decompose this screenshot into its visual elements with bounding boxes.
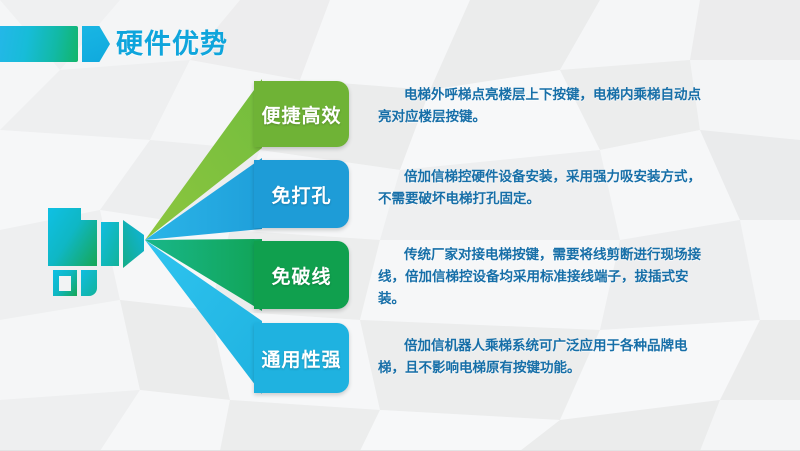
feature-description-3: 传统厂家对接电梯按键，需要将线剪断进行现场接线，倍加信梯控设备均采用标准接线端子…	[378, 244, 708, 310]
feature-box-2[interactable]: 免打孔	[254, 160, 349, 228]
feature-description-2: 倍加信梯控硬件设备安装，采用强力吸安装方式，不需要破坏电梯打孔固定。	[378, 166, 708, 210]
feature-description-4: 倍加信机器人乘梯系统可广泛应用于各种品牌电梯，且不影响电梯原有按键功能。	[378, 335, 708, 379]
projector-icon	[45, 188, 150, 298]
feature-description-1: 电梯外呼梯点亮楼层上下按键，电梯内乘梯自动点亮对应楼层按键。	[378, 84, 708, 128]
feature-box-4[interactable]: 通用性强	[254, 323, 349, 393]
feature-label-3: 免破线	[271, 262, 331, 289]
feature-box-1[interactable]: 便捷高效	[254, 81, 349, 147]
feature-box-3[interactable]: 免破线	[254, 241, 349, 309]
feature-label-1: 便捷高效	[261, 101, 341, 128]
slide-canvas: 硬件优势 便捷高效 免打孔 免破线 通用性强 电梯外呼梯点亮楼层上下按键，电梯内…	[0, 0, 800, 451]
feature-label-2: 免打孔	[271, 181, 331, 208]
feature-label-4: 通用性强	[261, 345, 341, 372]
banner-bar	[0, 26, 78, 62]
